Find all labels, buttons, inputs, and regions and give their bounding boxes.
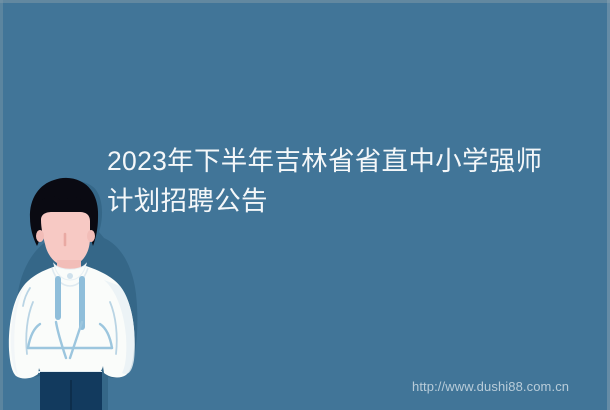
watermark-url: http://www.dushi88.com.cn (412, 379, 569, 395)
page-title: 2023年下半年吉林省省直中小学强师计划招聘公告 (107, 141, 547, 221)
collar-dot (67, 273, 73, 279)
banner-top-edge (0, 0, 610, 3)
pants (40, 372, 102, 410)
left-drawstring (55, 276, 61, 320)
announcement-banner: 2023年下半年吉林省省直中小学强师计划招聘公告 http://www.dush… (0, 0, 610, 410)
